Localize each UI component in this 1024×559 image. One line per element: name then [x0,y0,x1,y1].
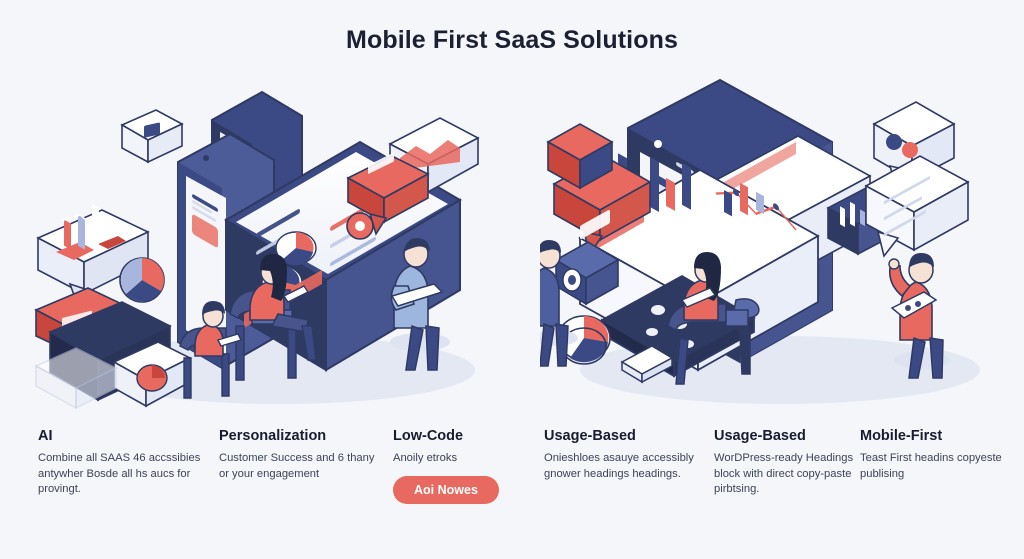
cta-button[interactable]: Aoi Nowes [393,476,499,504]
gear-badge [347,213,373,239]
slide-canvas: Mobile First SaaS Solutions [0,0,1024,559]
text-bubble-card [866,156,968,256]
feature-description: WorDPress-ready Headings block with dire… [714,451,864,498]
standing-man-right-figure [889,253,950,378]
feature-column-usage-based-2: Usage-Based WorDPress-ready Headings blo… [714,428,864,498]
feature-column-personalization: Personalization Customer Success and 6 t… [219,428,379,482]
feature-column-low-code: Low-Code Anoily etroks Aoi Nowes [393,428,533,504]
feature-title: Usage-Based [544,428,704,444]
feature-title: AI [38,428,206,444]
feature-title: Usage-Based [714,428,864,444]
feature-description: Anoily etroks [393,451,533,467]
feature-description: Customer Success and 6 thany or your eng… [219,451,379,482]
feature-column-usage-based-1: Usage-Based Onieshloes asauye accessibly… [544,428,704,482]
left-isometric-illustration [30,70,500,410]
feature-title: Personalization [219,428,379,444]
feature-column-mobile-first: Mobile-First Teast First headins copyest… [860,428,1010,482]
media-icon-card [122,110,182,162]
right-isometric-illustration [540,70,1010,410]
feature-title: Mobile-First [860,428,1010,444]
pie-chart-badge [120,258,164,302]
feature-column-ai: AI Combine all SAAS 46 accssibies antywh… [38,428,206,498]
feature-description: Onieshloes asauye accessibly gnower head… [544,451,704,482]
feature-description: Combine all SAAS 46 accssibies antywher … [38,451,206,498]
feature-description: Teast First headins copyeste publising [860,451,1010,482]
feature-title: Low-Code [393,428,533,444]
feature-columns: AI Combine all SAAS 46 accssibies antywh… [0,428,1024,559]
page-title: Mobile First SaaS Solutions [0,26,1024,55]
